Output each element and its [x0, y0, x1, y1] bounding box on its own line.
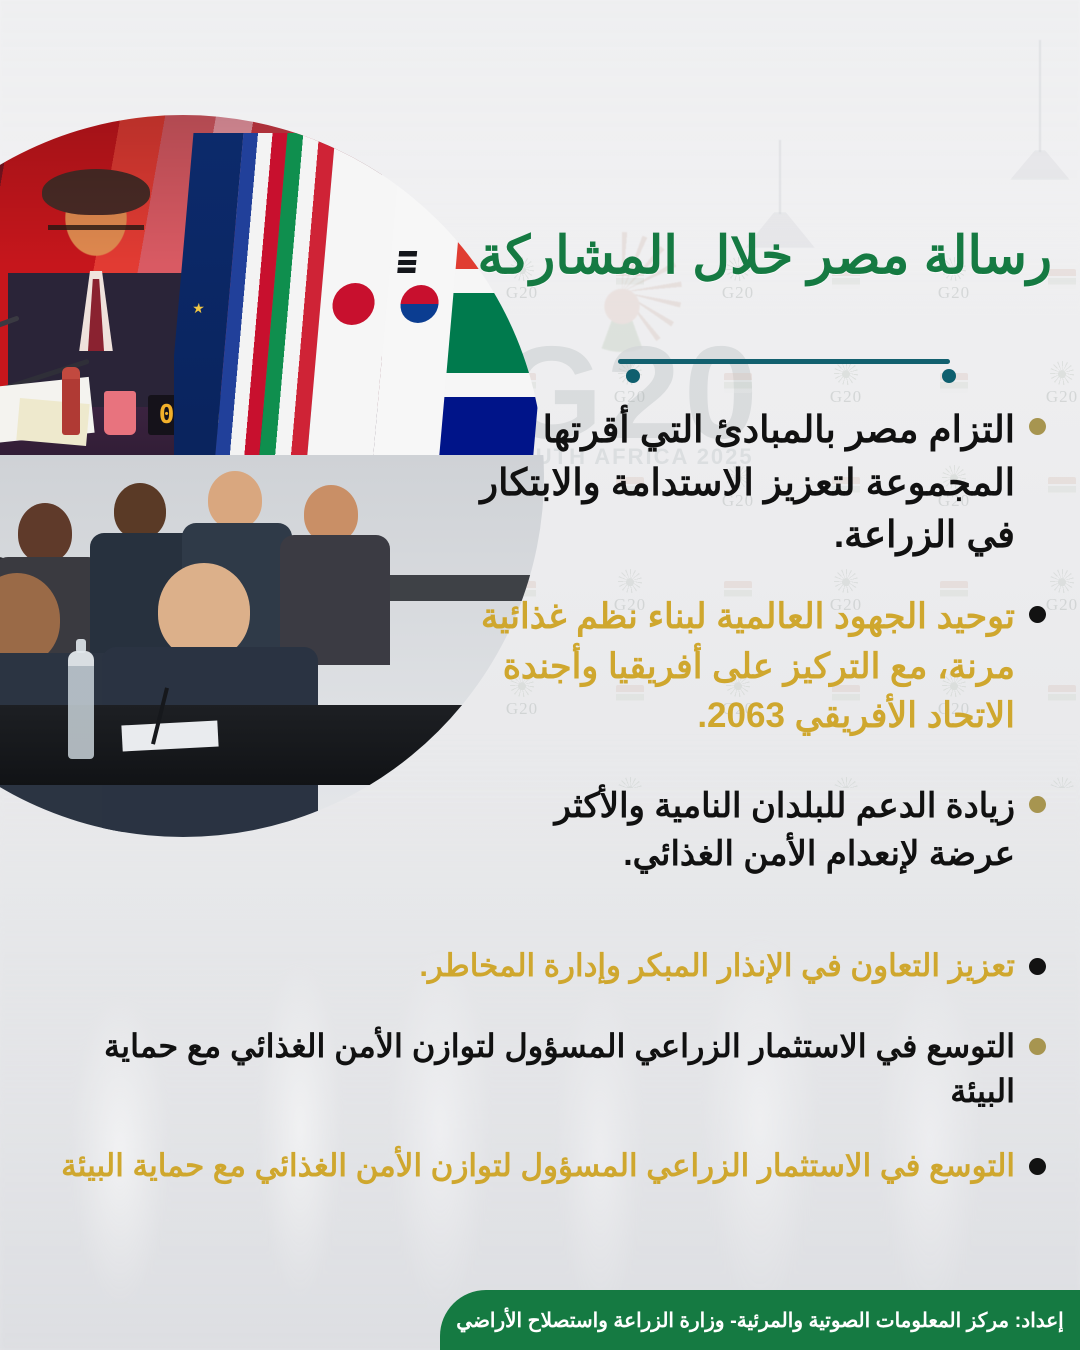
- delegates-foreground: [0, 455, 544, 837]
- footer-credit-bar: إعداد: مركز المعلومات الصوتية والمرئية- …: [440, 1290, 1080, 1350]
- papers: [0, 377, 95, 445]
- water-bottle: [68, 651, 94, 759]
- page-title: رسالة مصر خلال المشاركة: [442, 228, 1052, 285]
- g20-stripe-icon: [1048, 477, 1076, 497]
- g20-watermark-label: G20: [1046, 387, 1078, 407]
- g20-watermark-label: G20: [722, 283, 754, 303]
- delegate-body: [280, 535, 390, 665]
- list-item-label: توحيد الجهود العالمية لبناء نظم غذائية م…: [480, 592, 1015, 741]
- infographic-poster: G20 SOUTH AFRICA 2025 G20G20G20G20G20G20…: [0, 0, 1080, 1350]
- delegate-head: [18, 503, 72, 563]
- list-item: التوسع في الاستثمار الزراعي المسؤول لتوا…: [44, 1024, 1046, 1115]
- divider-dot-icon: [626, 369, 640, 383]
- g20-emblem-icon: [1050, 569, 1074, 593]
- g20-watermark-label: G20: [938, 283, 970, 303]
- ceiling-rod-icon: [1039, 40, 1041, 152]
- speaker-on-screen: [8, 163, 184, 413]
- g20-stripe-icon: [1048, 269, 1076, 289]
- bullet-dot-icon: [1029, 958, 1046, 975]
- list-item-label: زيادة الدعم للبلدان النامية والأكثر عرضة…: [480, 782, 1015, 879]
- list-item: زيادة الدعم للبلدان النامية والأكثر عرضة…: [480, 782, 1046, 879]
- divider-line: [618, 359, 950, 364]
- bullet-dot-icon: [1029, 1158, 1046, 1175]
- list-item-label: التزام مصر بالمبادئ التي أقرتها المجموعة…: [480, 404, 1015, 562]
- list-item: تعزيز التعاون في الإنذار المبكر وإدارة ا…: [234, 944, 1046, 988]
- bullet-dot-icon: [1029, 418, 1046, 435]
- bullet-dot-icon: [1029, 606, 1046, 623]
- bullet-dot-icon: [1029, 1038, 1046, 1055]
- g20-emblem-icon: [1050, 361, 1074, 385]
- microphone-icon: [0, 359, 90, 401]
- delegate-head: [208, 471, 262, 529]
- conference-photo: 0:11: [0, 115, 544, 837]
- g20-emblem-icon: [834, 569, 858, 593]
- list-item: التزام مصر بالمبادئ التي أقرتها المجموعة…: [480, 404, 1046, 562]
- list-item-label: التوسع في الاستثمار الزراعي المسؤول لتوا…: [44, 1024, 1015, 1115]
- g20-stripe-icon: [1048, 685, 1076, 705]
- papers: [16, 398, 89, 446]
- document: [121, 721, 218, 752]
- delegate-head: [158, 563, 250, 659]
- ceiling-rod-icon: [779, 140, 781, 214]
- g20-emblem-icon: [1050, 777, 1074, 788]
- bottle: [62, 367, 80, 435]
- cup: [104, 391, 136, 435]
- g20-emblem-icon: [618, 569, 642, 593]
- g20-stripe-icon: [724, 373, 752, 393]
- list-item: توحيد الجهود العالمية لبناء نظم غذائية م…: [480, 592, 1046, 741]
- microphone-icon: [0, 315, 20, 355]
- footer-credit-label: إعداد: مركز المعلومات الصوتية والمرئية- …: [456, 1308, 1063, 1333]
- divider-dot-icon: [942, 369, 956, 383]
- list-item-label: التوسع في الاستثمار الزراعي المسؤول لتوا…: [61, 1144, 1015, 1188]
- list-item: التوسع في الاستثمار الزراعي المسؤول لتوا…: [44, 1144, 1046, 1188]
- bullet-dot-icon: [1029, 796, 1046, 813]
- title-divider: [612, 355, 956, 367]
- delegate-head: [114, 483, 166, 539]
- list-item-label: تعزيز التعاون في الإنذار المبكر وإدارة ا…: [419, 944, 1015, 988]
- g20-watermark-label: G20: [1046, 595, 1078, 615]
